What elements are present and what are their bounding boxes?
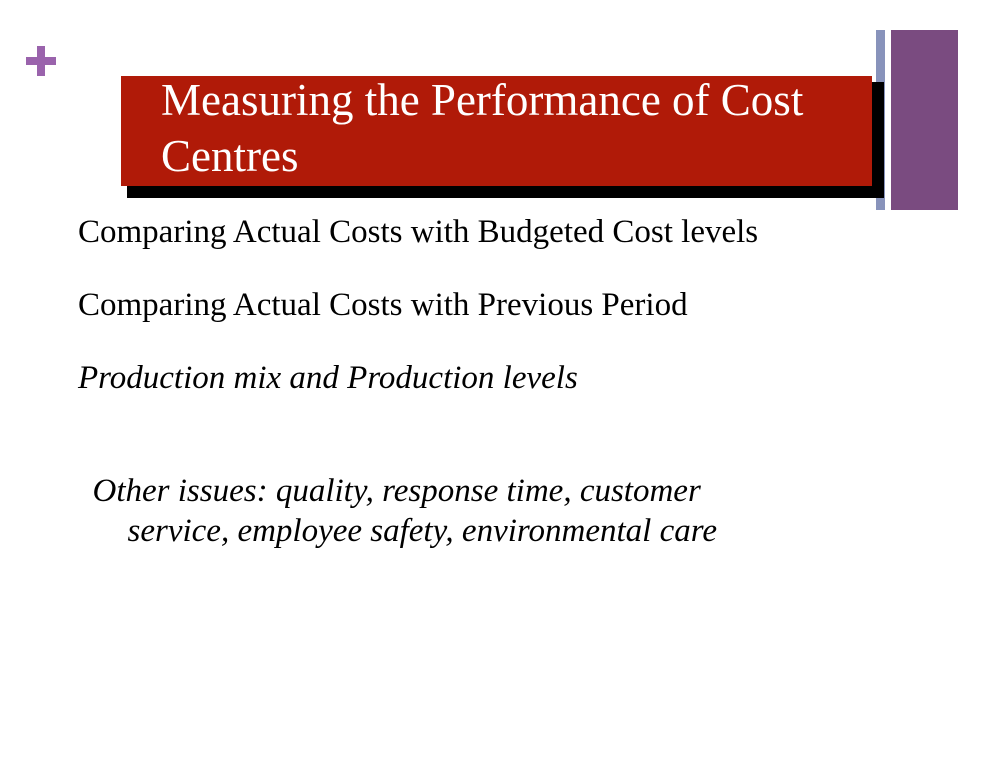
slide-title-line-2: Centres (161, 128, 872, 184)
presentation-slide: Measuring the Performance of Cost Centre… (0, 0, 990, 765)
title-banner: Measuring the Performance of Cost Centre… (121, 76, 872, 186)
body-line-4-segment-2: service, employee safety, environmental … (128, 513, 718, 549)
body-content: Comparing Actual Costs with Budgeted Cos… (78, 212, 938, 624)
body-line-3: Production mix and Production levels (78, 358, 938, 398)
body-line-2: Comparing Actual Costs with Previous Per… (78, 285, 938, 325)
body-line-1: Comparing Actual Costs with Budgeted Cos… (78, 212, 938, 252)
body-line-4-segment-1: Other issues: quality, response time, cu… (93, 473, 710, 509)
plus-icon (26, 46, 56, 76)
slide-title: Measuring the Performance of Cost Centre… (161, 76, 872, 184)
accent-color-block (891, 30, 958, 210)
slide-title-line-1: Measuring the Performance of Cost (161, 76, 803, 125)
body-line-4: Other issues: quality, response time, cu… (43, 431, 868, 591)
title-banner-group: Measuring the Performance of Cost Centre… (121, 76, 878, 192)
plus-icon-vertical-bar (37, 46, 45, 76)
